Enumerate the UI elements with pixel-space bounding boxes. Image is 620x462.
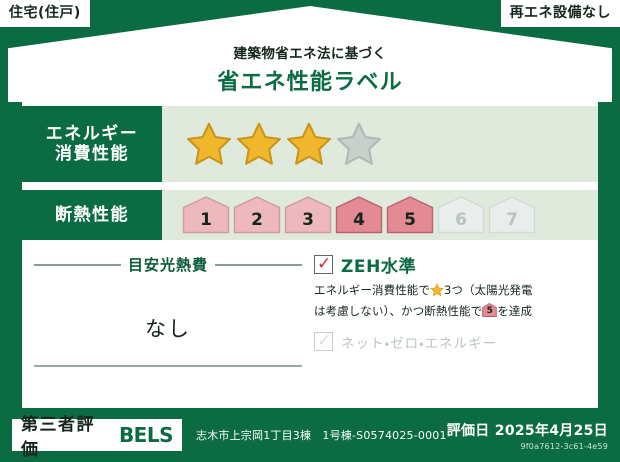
net-zero-energy-checkbox: ✓	[314, 332, 333, 351]
header-text-group: 建築物省エネ法に基づく 省エネ性能ラベル	[8, 42, 612, 96]
bels-energy-label: 住宅(住戸) 再エネ設備なし 建築物省エネ法に基づく 省エネ性能ラベル エネルギ…	[0, 0, 620, 462]
energy-performance-label-line2: 消費性能	[55, 144, 129, 164]
star-icon-empty	[336, 121, 382, 167]
zeh-checkbox: ✓	[314, 255, 333, 274]
zeh-desc-part3: を達成	[497, 304, 532, 318]
zeh-desc-part2: は考慮しない）、かつ断熱性能で	[314, 304, 482, 318]
insulation-level-number: 4	[353, 210, 365, 234]
inline-badge-number: 5	[482, 305, 497, 317]
energy-performance-label: エネルギー 消費性能	[22, 106, 162, 182]
insulation-level-7: 7	[488, 196, 536, 234]
insulation-level-number: 1	[200, 210, 212, 234]
insulation-level-number: 2	[251, 210, 263, 234]
zeh-desc-star-count: 3つ（太陽光発電	[444, 283, 533, 297]
insulation-level-4: 4	[335, 196, 383, 234]
badge-renewable-equipment: 再エネ設備なし	[498, 0, 620, 27]
evaluation-date: 評価日 2025年4月25日	[447, 420, 608, 440]
insulation-level-number: 6	[455, 210, 467, 234]
net-zero-energy-line: ✓ ネット・ゼロ・エネルギー	[314, 332, 588, 352]
insulation-level-1: 1	[182, 196, 230, 234]
star-icon-filled	[186, 121, 232, 167]
insulation-level-number: 3	[302, 210, 314, 234]
zeh-title: ZEH水準	[341, 252, 416, 277]
insulation-performance-row: 断熱性能 1234567	[22, 190, 598, 240]
insulation-level-number: 5	[404, 210, 416, 234]
heading-rule-left	[34, 264, 121, 266]
zeh-desc-part1: エネルギー消費性能で	[314, 283, 430, 297]
insulation-level-6: 6	[437, 196, 485, 234]
insulation-level-2: 2	[233, 196, 281, 234]
lower-content-area: 目安光熱費 なし ✓ ZEH水準 エネルギー消費性能で3つ（太陽光発電は考慮しな…	[22, 248, 598, 408]
evaluation-date-label: 評価日	[447, 423, 490, 439]
insulation-level-scale: 1234567	[162, 190, 598, 240]
bels-certification-badge: 第三者評価 BELS	[12, 419, 182, 451]
property-address: 志木市上宗岡1丁目3棟 1号棟-S0574025-0001	[196, 427, 447, 443]
bels-logo: BELS	[119, 423, 173, 447]
star-icon-filled	[286, 121, 332, 167]
evaluation-date-value: 2025年4月25日	[495, 423, 608, 439]
document-hash: 9f0a7612-3c61-4e59	[447, 442, 608, 451]
utility-cost-bottom-divider	[34, 365, 302, 367]
zeh-description: エネルギー消費性能で3つ（太陽光発電は考慮しない）、かつ断熱性能で5を達成	[314, 282, 588, 321]
page-title: 省エネ性能ラベル	[8, 64, 612, 96]
energy-performance-row: エネルギー 消費性能	[22, 106, 598, 182]
third-party-evaluation-label: 第三者評価	[21, 410, 112, 460]
inline-star-icon	[430, 283, 444, 303]
footer-bar: 第三者評価 BELS 志木市上宗岡1丁目3棟 1号棟-S0574025-0001…	[0, 408, 620, 462]
insulation-level-5: 5	[386, 196, 434, 234]
evaluation-meta: 評価日 2025年4月25日 9f0a7612-3c61-4e59	[447, 420, 608, 451]
zeh-block: ✓ ZEH水準 エネルギー消費性能で3つ（太陽光発電は考慮しない）、かつ断熱性能…	[314, 248, 598, 408]
header-subtitle: 建築物省エネ法に基づく	[8, 42, 612, 62]
energy-star-rating	[162, 106, 598, 182]
label-body-panel: エネルギー 消費性能 断熱性能 1234567 目安光熱費 なし	[22, 100, 598, 408]
insulation-level-number: 7	[506, 210, 518, 234]
net-zero-energy-label: ネット・ゼロ・エネルギー	[341, 332, 497, 352]
utility-cost-heading: 目安光熱費	[22, 254, 314, 275]
utility-cost-title: 目安光熱費	[128, 254, 208, 275]
energy-performance-label-line1: エネルギー	[46, 124, 139, 144]
inline-insulation-badge-icon: 5	[482, 303, 497, 317]
check-icon-muted: ✓	[317, 332, 331, 351]
badge-building-type: 住宅(住戸)	[0, 0, 93, 27]
heading-rule-right	[215, 264, 302, 266]
zeh-standard-line: ✓ ZEH水準	[314, 252, 588, 277]
utility-cost-value: なし	[22, 313, 314, 343]
insulation-level-3: 3	[284, 196, 332, 234]
star-icon-filled	[236, 121, 282, 167]
check-icon: ✓	[317, 255, 331, 274]
insulation-performance-label: 断熱性能	[22, 190, 162, 240]
utility-cost-block: 目安光熱費 なし	[22, 248, 314, 408]
